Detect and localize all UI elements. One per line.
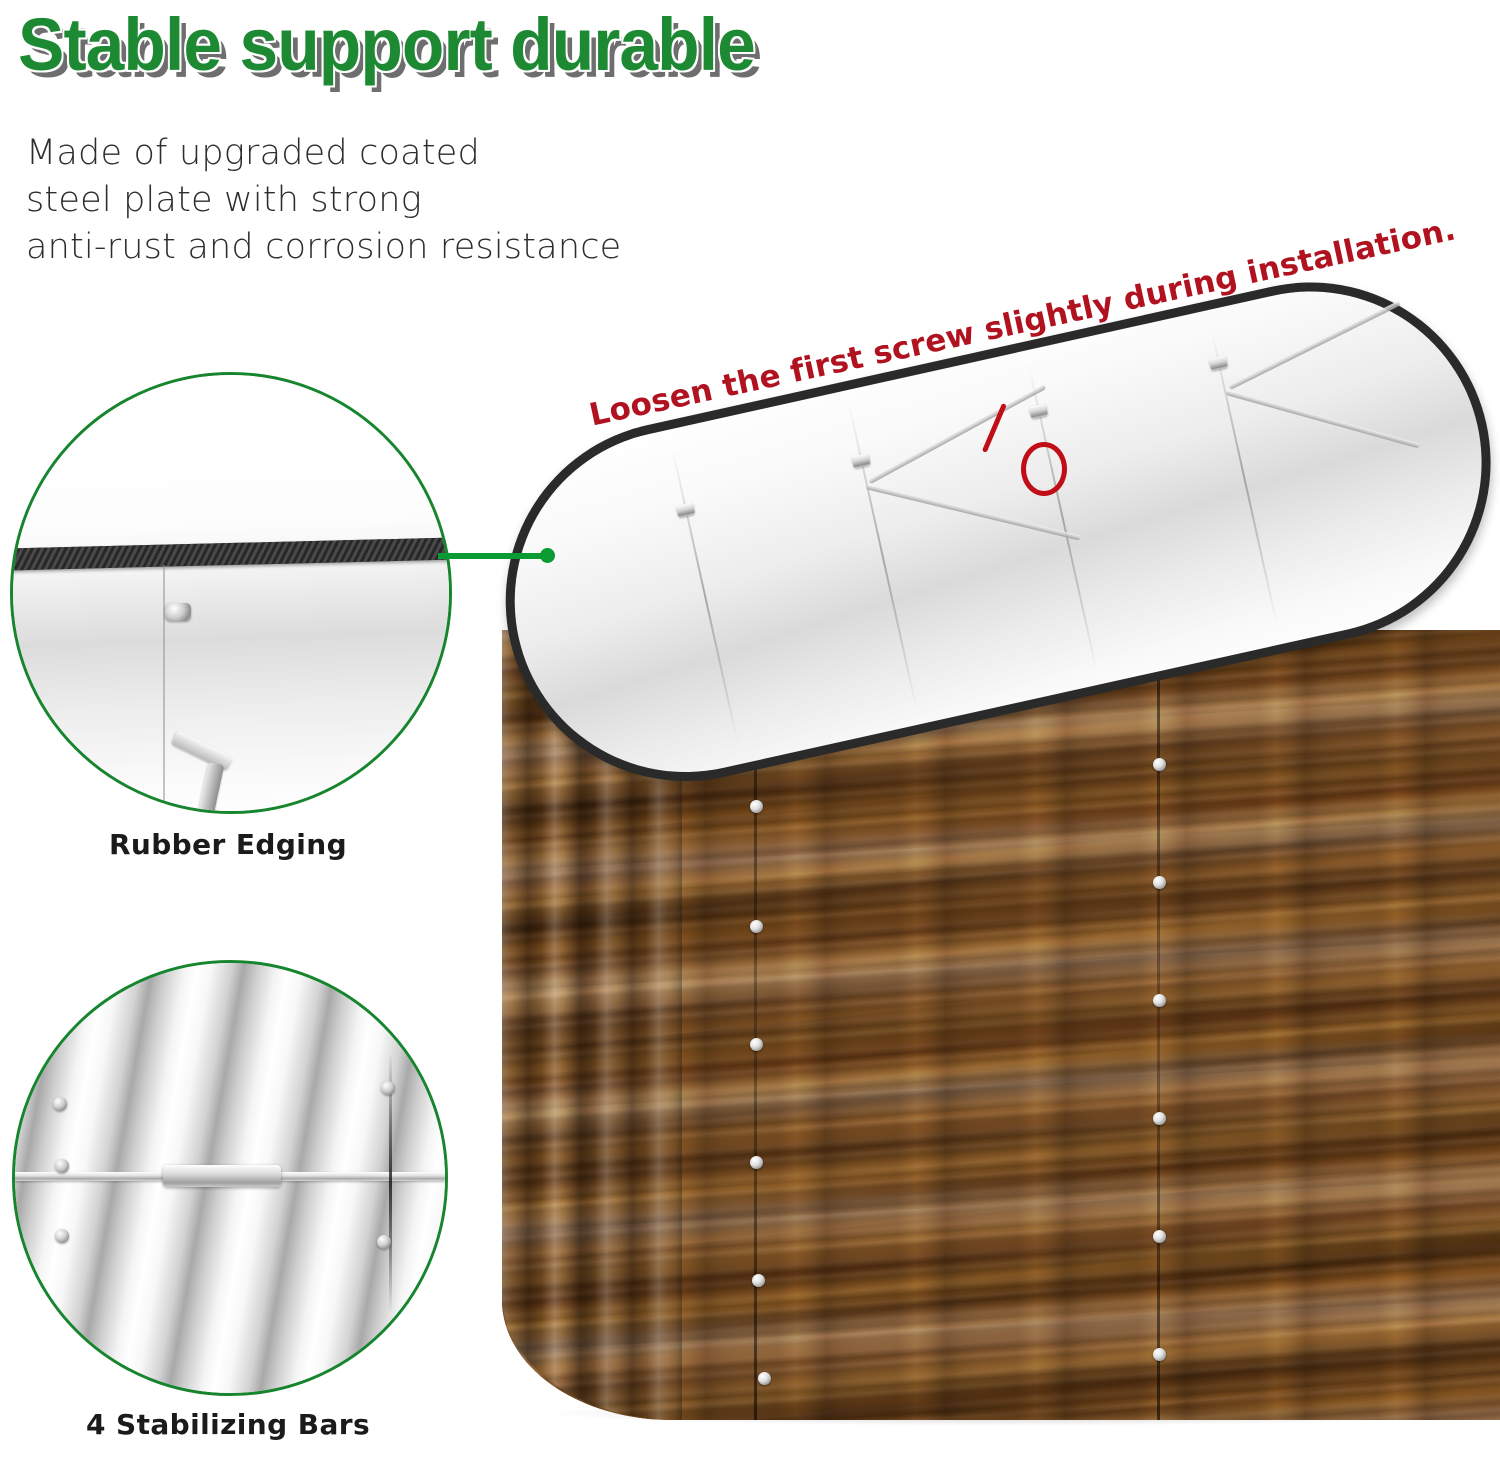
- panel-screw: [758, 1372, 771, 1385]
- interior-screw: [676, 502, 695, 517]
- panel-screw: [377, 1235, 391, 1249]
- callout-leader-line: [438, 553, 548, 559]
- panel-screw: [1153, 1112, 1166, 1125]
- interior-screw: [1029, 403, 1048, 418]
- edging-screw: [165, 603, 191, 621]
- bed-ground-shadow: [542, 1400, 1482, 1426]
- callout-rubber-edging: Rubber Edging: [6, 370, 450, 870]
- interior-rib: [848, 404, 918, 712]
- panel-screw: [750, 1038, 763, 1051]
- stabilizing-bar: [868, 384, 1046, 484]
- callout-stabilizing-bars: 4 Stabilizing Bars: [6, 960, 450, 1459]
- panel-screw: [750, 800, 763, 813]
- panel-screw: [1153, 758, 1166, 771]
- description-line-2: steel plate with strong: [26, 177, 846, 224]
- interior-screw: [851, 453, 870, 468]
- panel-screw: [1153, 1230, 1166, 1243]
- callout-label-stabilizing-bars: 4 Stabilizing Bars: [6, 1408, 450, 1441]
- galvanized-panel: [13, 375, 449, 811]
- panel-screw: [750, 920, 763, 933]
- page-title-text: Stable support durable: [18, 2, 755, 88]
- description-line-1: Made of upgraded coated: [26, 130, 846, 177]
- panel-screw: [381, 1081, 395, 1095]
- stabilizing-bar-coupler: [163, 1165, 281, 1187]
- product-description: Made of upgraded coated steel plate with…: [26, 130, 846, 271]
- interior-screw: [1209, 355, 1228, 370]
- interior-rib: [672, 450, 739, 744]
- panel-screw: [750, 1156, 763, 1169]
- panel-screw: [55, 1159, 69, 1173]
- panel-screw: [1153, 876, 1166, 889]
- stabilizing-bar: [1228, 301, 1400, 390]
- raised-garden-bed-product-image: [480, 330, 1500, 1459]
- first-screw-highlight-circle: [1021, 442, 1067, 496]
- panel-seam: [1157, 630, 1160, 1420]
- panel-screw: [1153, 1348, 1166, 1361]
- interior-rib: [1211, 330, 1278, 624]
- panel-screw: [1153, 994, 1166, 1007]
- panel-screw: [53, 1097, 67, 1111]
- stabilizing-bar: [1226, 390, 1420, 448]
- panel-screw: [55, 1229, 69, 1243]
- rubber-edging-detail-circle: [10, 372, 452, 814]
- callout-leader-endpoint: [540, 548, 555, 563]
- panel-seam: [163, 565, 165, 814]
- callout-label-rubber-edging: Rubber Edging: [6, 828, 450, 861]
- page-title: Stable support durable: [18, 2, 978, 94]
- stabilizing-bars-detail-circle: [12, 960, 448, 1396]
- description-line-3: anti-rust and corrosion resistance: [26, 224, 846, 271]
- panel-screw: [752, 1274, 765, 1287]
